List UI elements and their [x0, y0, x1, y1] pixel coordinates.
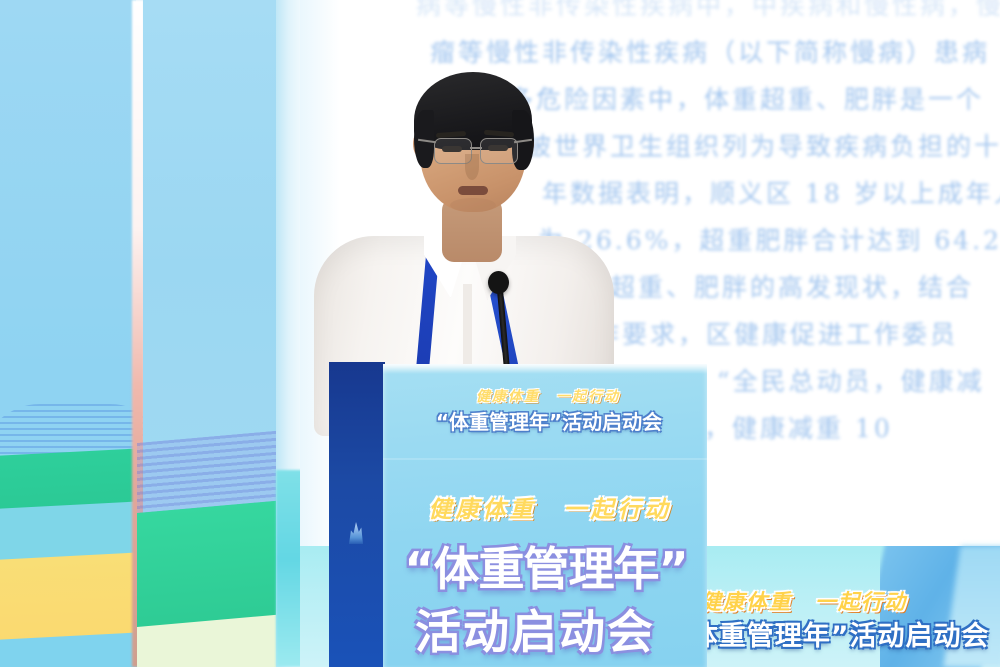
wall-panel-left [0, 0, 136, 667]
microphone-head [488, 271, 509, 294]
photo-stage: 病等慢性非传染性疾病中，中疾病和慢性病，慢性病的 瘤等慢性非传染性疾病（以下简称… [0, 0, 1000, 667]
mouth [458, 186, 488, 195]
glasses-bridge [470, 147, 482, 149]
podium-front-title-line1: “体重管理年” [388, 533, 704, 599]
wall-panel-middle [143, 0, 278, 667]
podium-mountain-icon [349, 522, 363, 544]
projected-line: 病等慢性非传染性疾病中，中疾病和慢性病，慢性病的 [330, 0, 1000, 29]
banner-title: “体重管理年”活动启动会 [672, 614, 1000, 653]
podium-front-tagline: 健康体重 一起行动 [400, 490, 700, 524]
podium-top-tagline: 健康体重 一起行动 [420, 386, 676, 406]
podium-top-highlight [383, 364, 707, 374]
podium-side-panel [329, 362, 385, 667]
wall-band-green-2 [137, 499, 297, 633]
glasses-lens-right [480, 138, 518, 164]
podium-front-title-line2: 活动启动会 [390, 596, 680, 662]
wall-band-yellow [0, 552, 150, 644]
nose [465, 154, 479, 180]
speaker-figure [300, 58, 630, 378]
podium-panel-divider [383, 458, 707, 460]
banner-tagline: 健康体重 一起行动 [700, 586, 1000, 616]
chin [450, 198, 496, 212]
podium-top-title: “体重管理年”活动启动会 [404, 406, 694, 435]
